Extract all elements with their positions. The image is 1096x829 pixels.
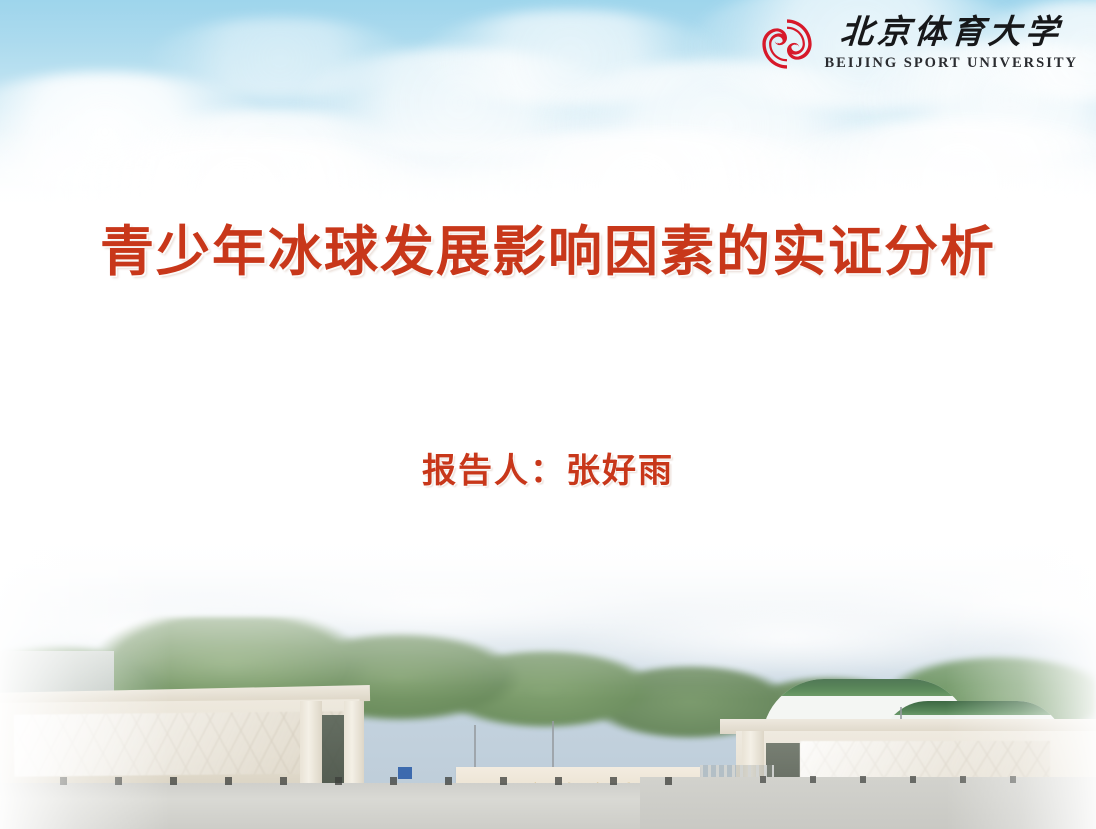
university-name-en: BEIJING SPORT UNIVERSITY — [825, 56, 1079, 71]
presentation-slide: 北京体育大学 BEIJING SPORT UNIVERSITY 青少年冰球发展影… — [0, 0, 1096, 829]
slide-title: 青少年冰球发展影响因素的实证分析 — [0, 222, 1096, 282]
university-logo: 北京体育大学 BEIJING SPORT UNIVERSITY — [759, 16, 1079, 72]
university-name-cn: 北京体育大学 — [839, 17, 1063, 50]
presenter-line: 报告人：张好雨 — [0, 443, 1096, 492]
swirl-logo-icon — [759, 16, 815, 72]
campus-white-fade-right — [946, 529, 1096, 829]
campus-white-fade-left — [0, 529, 170, 829]
university-logo-text: 北京体育大学 BEIJING SPORT UNIVERSITY — [825, 17, 1079, 71]
campus-gate-photo: 北京体育大学 — [0, 529, 1096, 829]
